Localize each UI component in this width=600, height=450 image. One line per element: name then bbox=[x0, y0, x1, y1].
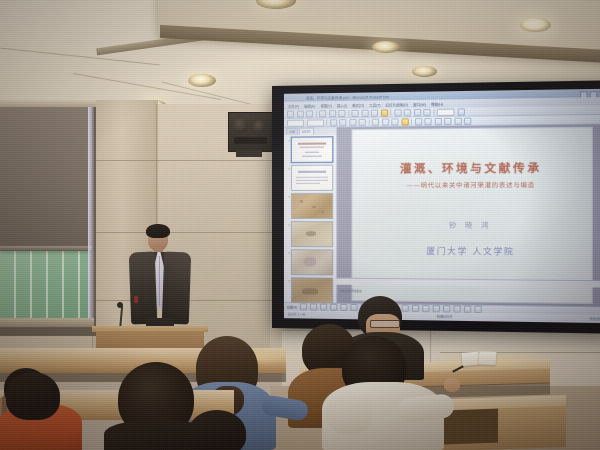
print-icon[interactable] bbox=[319, 110, 326, 117]
cut-icon[interactable] bbox=[351, 109, 358, 116]
thumbnail-list[interactable]: 1 2 bbox=[284, 134, 336, 302]
design-icon[interactable] bbox=[454, 117, 461, 124]
map-detail bbox=[312, 206, 316, 208]
3d-style-icon[interactable] bbox=[475, 306, 482, 313]
zoom-combo[interactable] bbox=[437, 108, 455, 115]
presenter-hair bbox=[146, 224, 170, 238]
toolbar-separator bbox=[348, 109, 349, 116]
slide-author: 钞 晓 鸿 bbox=[449, 220, 491, 230]
slide-organization: 厦门大学 人文学院 bbox=[426, 245, 514, 258]
font-color-icon[interactable] bbox=[433, 305, 440, 312]
menu-format[interactable]: 格式(O) bbox=[352, 102, 364, 107]
thumb-title-line bbox=[298, 171, 326, 173]
projected-desktop: 灌溉、环境与文献传承.ppt - Microsoft PowerPoint 文件… bbox=[284, 89, 600, 323]
paste-icon[interactable] bbox=[371, 109, 378, 116]
thumbnail-item[interactable]: 5 bbox=[287, 249, 333, 275]
thumb-org-line bbox=[302, 156, 322, 157]
presenter-jacket-right bbox=[162, 252, 191, 325]
promote-icon[interactable] bbox=[434, 117, 441, 124]
bold-icon[interactable] bbox=[330, 119, 337, 126]
powerpoint-workarea: 大纲 幻灯片 1 bbox=[284, 124, 600, 306]
menu-edit[interactable]: 编辑(E) bbox=[304, 103, 315, 108]
thumb-body-line bbox=[296, 177, 328, 178]
ceiling-seam bbox=[0, 48, 159, 66]
new-icon[interactable] bbox=[287, 110, 294, 117]
thumbnail-slide-1[interactable] bbox=[291, 136, 333, 162]
align-left-icon[interactable] bbox=[372, 118, 379, 125]
book-page-right bbox=[479, 352, 497, 365]
projection-screen: 灌溉、环境与文献传承.ppt - Microsoft PowerPoint 文件… bbox=[272, 80, 600, 333]
menu-file[interactable]: 文件(F) bbox=[288, 103, 299, 108]
window-bar bbox=[62, 251, 64, 321]
save-icon[interactable] bbox=[306, 110, 313, 117]
window-sill bbox=[0, 318, 94, 327]
ceiling-downlight-icon bbox=[520, 18, 551, 32]
window-bar bbox=[14, 251, 16, 321]
start-button[interactable]: 开始 bbox=[284, 319, 300, 323]
toolbar-separator bbox=[316, 110, 317, 117]
window-light-edge bbox=[88, 104, 94, 322]
thumb-body-line bbox=[296, 180, 328, 181]
dash-style-icon[interactable] bbox=[454, 305, 461, 312]
hoodie-hood bbox=[326, 392, 372, 434]
start-label: 开始 bbox=[288, 321, 295, 323]
toolbar-separator bbox=[433, 108, 434, 115]
preview-icon[interactable] bbox=[329, 110, 336, 117]
thumbnail-number: 1 bbox=[287, 137, 290, 143]
slide-thumbnail-pane[interactable]: 大纲 幻灯片 1 bbox=[284, 127, 337, 303]
window-title: 灌溉、环境与文献传承.ppt - Microsoft PowerPoint bbox=[306, 94, 389, 100]
menu-help[interactable]: 帮助(H) bbox=[431, 101, 443, 106]
thumbnail-slide-3[interactable] bbox=[291, 193, 333, 219]
open-icon[interactable] bbox=[296, 110, 303, 117]
redo-icon[interactable] bbox=[404, 109, 411, 116]
draw-menu-label[interactable]: 绘图(R) bbox=[287, 305, 297, 309]
thumbnail-slide-6[interactable] bbox=[291, 277, 333, 303]
underline-icon[interactable] bbox=[349, 118, 356, 125]
menu-window[interactable]: 窗口(W) bbox=[413, 101, 426, 106]
quick-launch-bar[interactable] bbox=[300, 321, 327, 323]
line-style-icon[interactable] bbox=[443, 305, 450, 312]
audience-hand bbox=[444, 378, 460, 392]
toolbar-separator bbox=[390, 109, 391, 116]
shadow-icon[interactable] bbox=[359, 118, 366, 125]
wall-speaker bbox=[228, 112, 274, 152]
speaker-port bbox=[234, 137, 267, 144]
thumb-title-line bbox=[298, 143, 326, 145]
status-layout-name: “标题幻灯片” bbox=[436, 314, 454, 318]
map-detail bbox=[300, 200, 303, 203]
map-detail bbox=[306, 231, 316, 236]
arrow-icon[interactable] bbox=[330, 304, 337, 311]
speaker-cone-icon bbox=[253, 120, 266, 133]
decrease-font-icon[interactable] bbox=[424, 118, 431, 125]
notes-placeholder: 单击此处添加备注 bbox=[339, 289, 362, 293]
classroom: 灌溉、环境与文献传承.ppt - Microsoft PowerPoint 文件… bbox=[0, 0, 600, 450]
thumbnail-item[interactable]: 1 bbox=[287, 136, 333, 163]
browser-icon[interactable] bbox=[311, 321, 316, 323]
blind-bottom-rail[interactable] bbox=[0, 246, 92, 251]
speaker-bracket bbox=[236, 150, 262, 157]
new-slide-icon[interactable] bbox=[464, 117, 471, 124]
menu-slideshow[interactable]: 幻灯片放映(D) bbox=[386, 102, 408, 107]
status-language: 中文(中国) bbox=[590, 317, 600, 321]
line-color-icon[interactable] bbox=[422, 305, 429, 312]
bullets-icon[interactable] bbox=[401, 118, 408, 125]
insert-chart-icon[interactable] bbox=[423, 108, 430, 115]
font-name-combo[interactable] bbox=[287, 119, 304, 126]
align-center-icon[interactable] bbox=[382, 118, 389, 125]
thumbnail-item[interactable]: 4 bbox=[287, 221, 333, 247]
ceiling-downlight-icon bbox=[412, 66, 437, 77]
fill-color-icon[interactable] bbox=[412, 305, 419, 312]
menu-view[interactable]: 视图(V) bbox=[320, 103, 331, 108]
toolbar-separator bbox=[326, 119, 327, 126]
show-desktop-icon[interactable] bbox=[304, 321, 309, 323]
thumbnail-slide-4[interactable] bbox=[291, 221, 333, 247]
thumb-body-line bbox=[296, 183, 320, 184]
slide-subtitle: ——明代以来关中诸河渠灌的表述与编造 bbox=[407, 180, 535, 190]
slide-title: 灌溉、环境与文献传承 bbox=[400, 159, 542, 176]
status-slide-index: 幻灯片 1 / 45 bbox=[288, 312, 305, 316]
font-size-combo[interactable] bbox=[306, 119, 323, 126]
picture-icon[interactable] bbox=[402, 305, 409, 312]
audience-head bbox=[188, 410, 246, 450]
toolbar-separator bbox=[368, 118, 369, 125]
menu-tools[interactable]: 工具(T) bbox=[369, 102, 380, 107]
presenter-jacket-left bbox=[129, 252, 157, 325]
shadow-style-icon[interactable] bbox=[464, 306, 471, 313]
thumb-subtitle-line bbox=[300, 147, 324, 148]
audience-head bbox=[6, 372, 60, 420]
speaker-cone-icon bbox=[233, 118, 248, 133]
map-detail bbox=[304, 257, 316, 266]
open-book bbox=[462, 351, 496, 365]
window-bar bbox=[30, 251, 32, 321]
window-bar bbox=[78, 251, 80, 321]
increase-font-icon[interactable] bbox=[414, 118, 421, 125]
lecture-hall-photo: 灌溉、环境与文献传承.ppt - Microsoft PowerPoint 文件… bbox=[0, 0, 600, 450]
spelling-icon[interactable] bbox=[338, 110, 345, 117]
format-painter-icon[interactable] bbox=[381, 109, 388, 116]
microphone-icon bbox=[117, 302, 123, 308]
thumbnail-number: 5 bbox=[287, 249, 290, 255]
thumbnail-item[interactable]: 2 bbox=[287, 165, 333, 191]
book-page-left bbox=[462, 352, 480, 366]
thumbnail-number: 3 bbox=[287, 193, 290, 199]
ceiling-downlight-icon bbox=[188, 74, 216, 87]
thumbnail-slide-5[interactable] bbox=[291, 249, 333, 275]
thumbnail-item[interactable]: 6 bbox=[287, 277, 333, 303]
eyeglasses-icon bbox=[370, 320, 400, 328]
thumbnail-number: 2 bbox=[287, 165, 290, 171]
window-head-trim bbox=[0, 100, 96, 107]
undo-icon[interactable] bbox=[394, 109, 401, 116]
insert-table-icon[interactable] bbox=[413, 109, 420, 116]
jacket-detail bbox=[134, 296, 138, 303]
copy-icon[interactable] bbox=[361, 109, 368, 116]
toolbar-separator bbox=[411, 118, 412, 125]
wall-panel-seam bbox=[92, 160, 272, 161]
presenter bbox=[128, 222, 194, 338]
menu-insert[interactable]: 插入(I) bbox=[337, 102, 347, 107]
thumbnail-slide-2[interactable] bbox=[291, 165, 333, 191]
map-detail bbox=[322, 211, 325, 213]
shirt-stripe bbox=[159, 256, 160, 306]
window-bar bbox=[46, 251, 48, 321]
align-right-icon[interactable] bbox=[391, 118, 398, 125]
demote-icon[interactable] bbox=[444, 117, 451, 124]
help-icon[interactable] bbox=[457, 108, 464, 115]
thumb-author-line bbox=[305, 152, 319, 153]
thumbnail-number: 6 bbox=[287, 277, 290, 283]
media-player-icon[interactable] bbox=[318, 321, 323, 323]
thumbnail-item[interactable]: 3 bbox=[287, 193, 333, 219]
map-detail bbox=[302, 288, 318, 294]
thumbnail-number: 4 bbox=[287, 221, 290, 227]
italic-icon[interactable] bbox=[339, 119, 346, 126]
window-roller-blind[interactable] bbox=[0, 104, 92, 250]
ceiling-downlight-icon bbox=[372, 41, 400, 53]
